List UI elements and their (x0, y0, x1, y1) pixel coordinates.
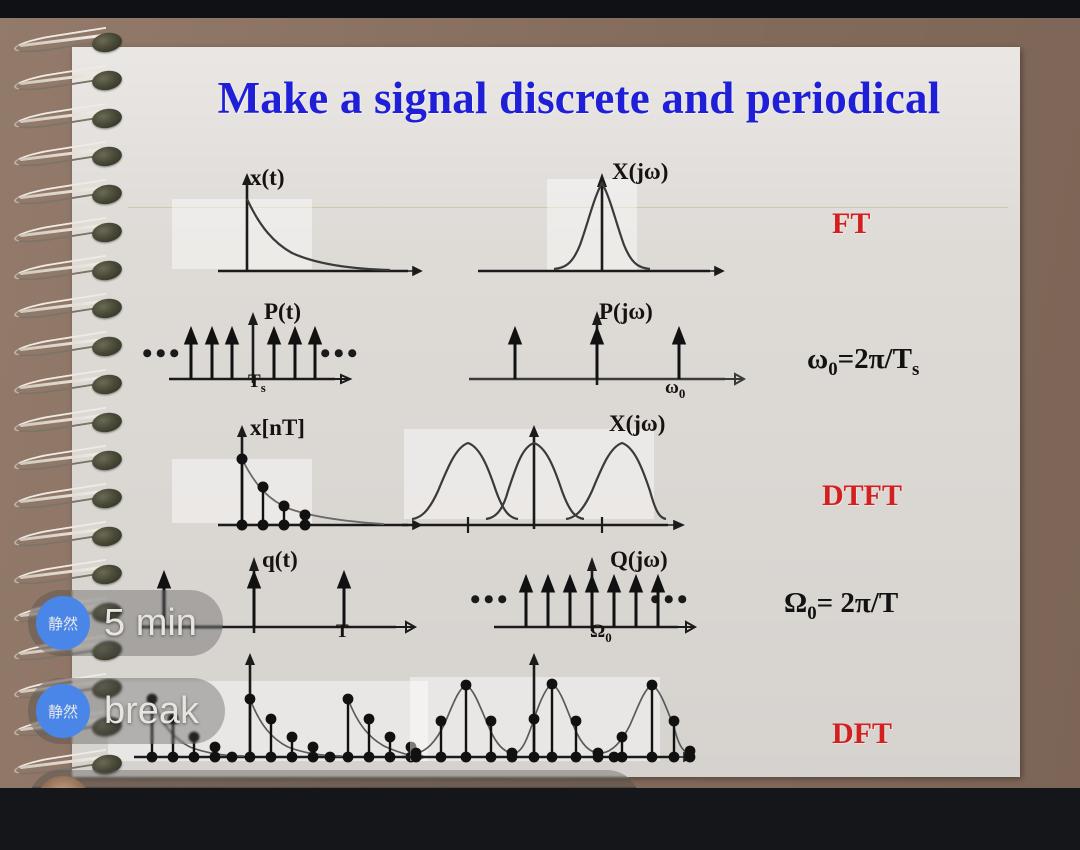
axis-label-omega0: ω0 (665, 377, 685, 402)
plot-X-jw-2 (400, 421, 700, 537)
spiral-binding (0, 18, 120, 788)
label-x-t: x(t) (250, 165, 284, 191)
letterbox-top (0, 0, 1080, 18)
screen: Make a signal discrete and periodical x(… (0, 0, 1080, 850)
label-q-t: q(t) (262, 547, 298, 573)
side-label-Omega0-eq: Ω0= 2π/T (784, 587, 898, 625)
letterbox-bottom (0, 788, 1080, 850)
plot-dft-freq (400, 653, 710, 771)
side-label-dft: DFT (832, 717, 892, 751)
axis-label-Omega0: Ω0 (590, 621, 612, 646)
row-sampling-train: ••• ••• (72, 299, 1020, 409)
plot-dft-time (132, 653, 442, 771)
label-X-jw-1: X(jω) (612, 159, 668, 185)
row-dft: DFT (72, 647, 1020, 777)
presentation-slide: Make a signal discrete and periodical x(… (72, 47, 1020, 777)
axis-label-T: T (336, 621, 349, 643)
plot-x-t (212, 169, 432, 279)
row-dtft: x[nT] X(jω) DTFT (72, 407, 1020, 547)
row-ft: x(t) X(jω) FT (72, 159, 1020, 277)
plot-x-nT (212, 421, 432, 537)
label-P-t: P(t) (264, 299, 301, 325)
row-periodic-train: q(t) T ••• ••• (72, 545, 1020, 655)
label-P-jw: P(jω) (599, 299, 653, 325)
side-label-dtft: DTFT (822, 479, 902, 513)
side-label-omega0-eq: ω0=2π/Ts (807, 343, 919, 381)
label-x-nT: x[nT] (250, 415, 305, 441)
label-Q-jw: Q(jω) (610, 547, 668, 573)
plot-X-jw-1 (472, 169, 732, 279)
diagram-grid: x(t) X(jω) FT ••• ••• (72, 47, 1020, 777)
label-X-jw-2: X(jω) (609, 411, 665, 437)
side-label-ft: FT (832, 207, 870, 241)
axis-label-Ts: Ts (248, 371, 266, 396)
